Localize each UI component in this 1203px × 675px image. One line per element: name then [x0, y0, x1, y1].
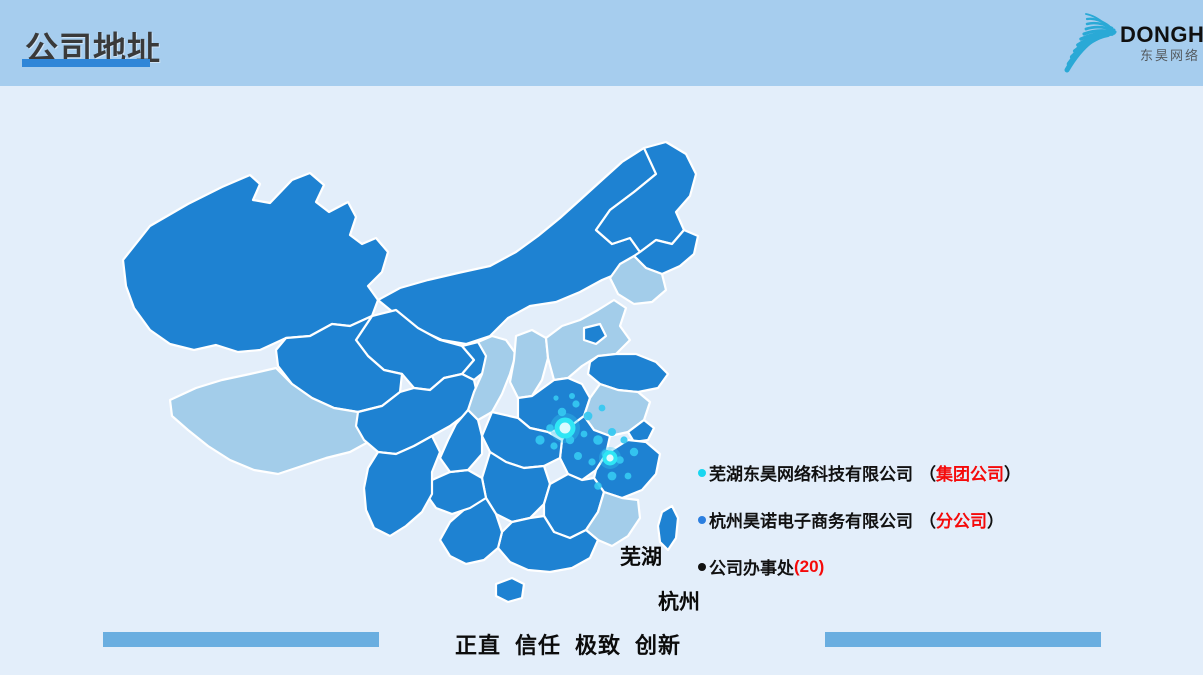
legend-item-branch-company: 杭州昊诺电子商务有限公司 （ 分公司 ）	[698, 507, 1028, 532]
city-label-wuhu: 芜湖	[620, 541, 662, 571]
legend-office-count: 20	[800, 557, 819, 577]
footer-bar-right	[825, 632, 1101, 647]
china-map: 芜湖 杭州	[110, 140, 710, 610]
map-legend: 芜湖东昊网络科技有限公司 （ 集团公司 ） 杭州昊诺电子商务有限公司 （ 分公司…	[698, 460, 1028, 579]
legend-bullet-black-icon	[698, 563, 706, 571]
legend-paren-open-2: （	[919, 507, 936, 532]
legend-paren-open-1: （	[919, 460, 936, 485]
legend-paren-close-1: ）	[1004, 460, 1021, 485]
legend-paren-close-3: )	[819, 557, 825, 577]
legend-item-group-company: 芜湖东昊网络科技有限公司 （ 集团公司 ）	[698, 460, 1028, 485]
slogan-word-3: 极致	[575, 633, 621, 658]
legend-bullet-cyan-icon	[698, 469, 706, 477]
footer-slogan: 正直信任极致创新	[455, 628, 681, 660]
city-label-hangzhou: 杭州	[658, 586, 700, 616]
slogan-word-1: 正直	[455, 633, 501, 658]
logo-subtitle: 东昊网络	[1140, 49, 1200, 62]
province-hainan	[496, 578, 524, 602]
legend-tag-1: 集团公司	[936, 460, 1004, 485]
footer-bar-left	[103, 632, 379, 647]
page-header: 公司地址 DONGHAO 东昊网络	[0, 0, 1203, 86]
china-map-svg	[110, 140, 710, 610]
donghao-wing-icon	[1058, 8, 1120, 74]
legend-item-offices: 公司办事处 ( 20 )	[698, 554, 1028, 579]
marker-hangzhou[interactable]	[599, 447, 621, 469]
logo-wordmark: DONGHAO	[1120, 24, 1203, 46]
marker-wuhu[interactable]	[550, 413, 580, 443]
legend-bullet-blue-icon	[698, 516, 706, 524]
legend-label-company-1: 芜湖东昊网络科技有限公司	[709, 460, 913, 485]
legend-tag-2: 分公司	[936, 507, 987, 532]
legend-label-company-2: 杭州昊诺电子商务有限公司	[709, 507, 913, 532]
slogan-word-4: 创新	[635, 633, 681, 658]
legend-label-offices: 公司办事处	[709, 554, 794, 579]
slogan-word-2: 信任	[515, 633, 561, 658]
title-underline-accent	[22, 59, 150, 67]
brand-logo: DONGHAO 东昊网络	[1058, 6, 1198, 78]
legend-paren-close-2: ）	[987, 507, 1004, 532]
